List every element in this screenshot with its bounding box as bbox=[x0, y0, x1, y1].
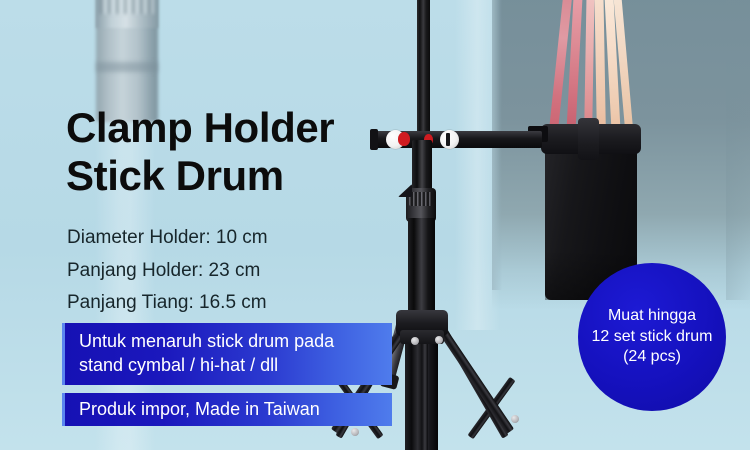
clamp-holder-arm-cap bbox=[370, 129, 378, 150]
spec-diameter-holder: Diameter Holder: 10 cm bbox=[67, 222, 268, 255]
spec-panjang-holder: Panjang Holder: 23 cm bbox=[67, 255, 268, 288]
arm-slot bbox=[446, 133, 450, 146]
feature-banner-usage-text: Untuk menaruh stick drum pada stand cymb… bbox=[79, 330, 334, 378]
capacity-badge: Muat hingga 12 set stick drum (24 pcs) bbox=[578, 263, 726, 411]
specification-list: Diameter Holder: 10 cm Panjang Holder: 2… bbox=[67, 222, 268, 320]
tripod-screw-2 bbox=[435, 336, 443, 344]
tripod-screw-4 bbox=[511, 415, 519, 423]
feature-banner-usage: Untuk menaruh stick drum pada stand cymb… bbox=[62, 323, 392, 385]
feature-banner-origin: Produk impor, Made in Taiwan bbox=[62, 393, 392, 426]
blurred-cylinder-ridges bbox=[100, 0, 154, 14]
product-banner-image: Clamp Holder Stick Drum Diameter Holder:… bbox=[0, 0, 750, 450]
background-seam-right bbox=[726, 0, 750, 300]
capacity-badge-text: Muat hingga 12 set stick drum (24 pcs) bbox=[592, 306, 713, 368]
tripod-leg-center bbox=[418, 332, 428, 450]
collar-knurl-texture bbox=[409, 192, 433, 206]
tripod-screw-3 bbox=[351, 428, 359, 436]
blurred-cylinder-band bbox=[96, 62, 158, 72]
stick-holder-bag-strap bbox=[578, 118, 599, 160]
spec-panjang-tiang: Panjang Tiang: 16.5 cm bbox=[67, 287, 268, 320]
arm-accent-red-left bbox=[398, 132, 410, 146]
tripod-screw-1 bbox=[411, 337, 419, 345]
feature-banner-origin-text: Produk impor, Made in Taiwan bbox=[79, 399, 320, 420]
page-title: Clamp Holder Stick Drum bbox=[66, 104, 334, 200]
stand-pole-upper bbox=[417, 0, 430, 144]
background-pale-column-right bbox=[455, 0, 500, 330]
